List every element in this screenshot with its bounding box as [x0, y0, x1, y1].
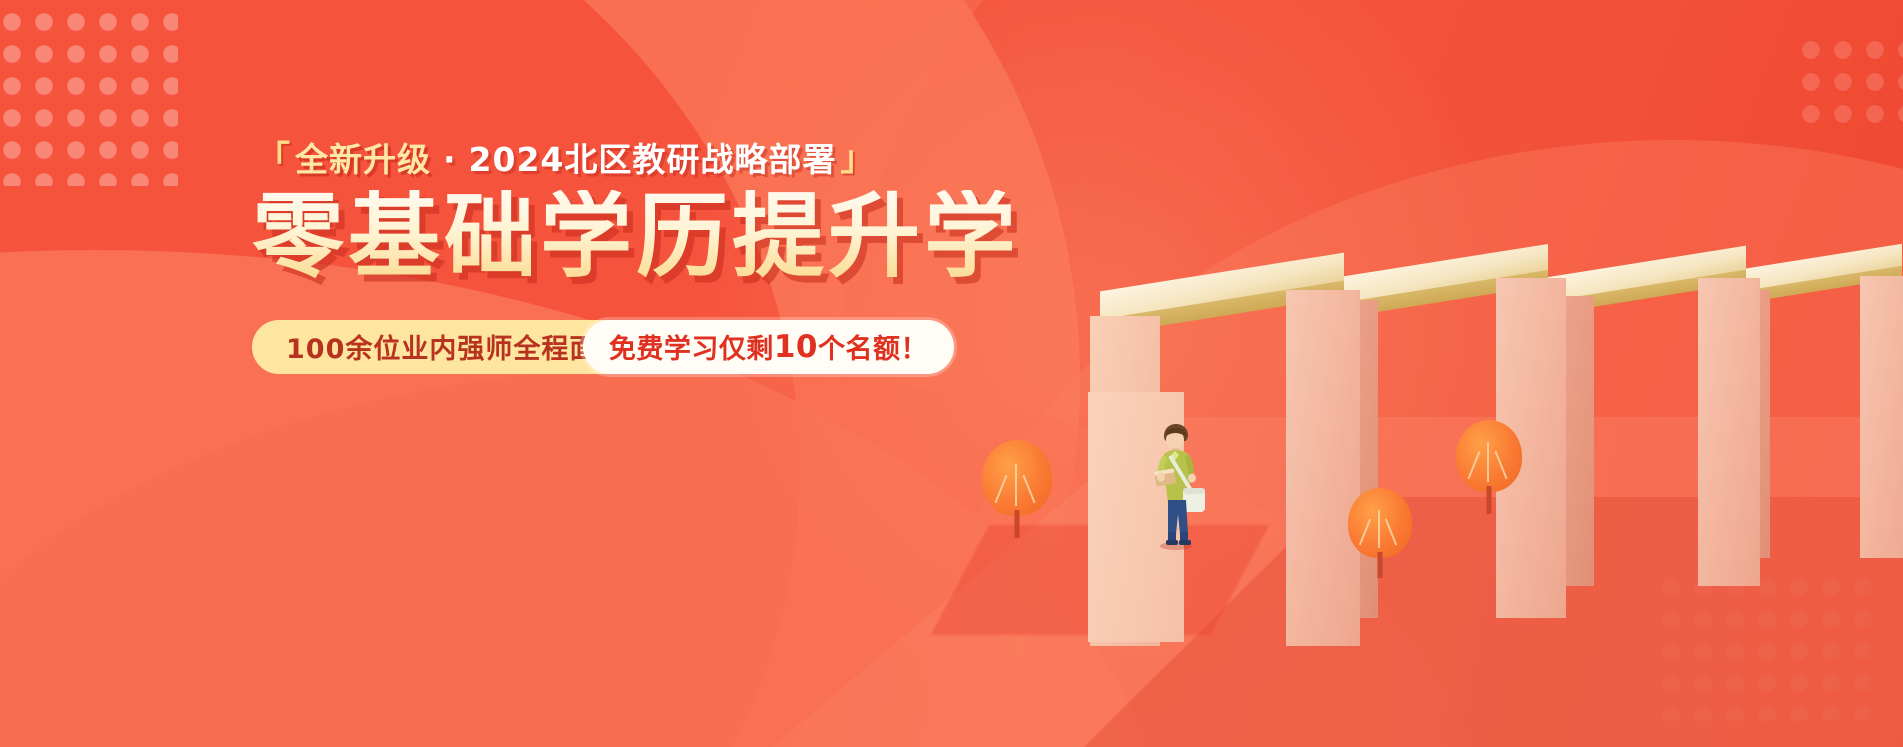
headline-title: 零基础学历提升学霸班 — [252, 190, 1012, 284]
badge-row: 100余位业内强师全程面授 免费学习仅剩10个名额！ — [252, 320, 954, 374]
badge-seats-prefix: 免费学习仅剩 — [609, 327, 774, 366]
eyebrow-rest: 2024北区教研战略部署 — [469, 143, 837, 176]
eyebrow-highlight: 全新升级 — [295, 143, 431, 176]
promo-banner: 「 全新升级 · 2024北区教研战略部署 」 零基础学历提升学霸班 100余位… — [0, 0, 1903, 747]
badge-seats-number: 10 — [774, 329, 818, 365]
bracket-close-icon: 」 — [840, 142, 875, 176]
copy-block: 「 全新升级 · 2024北区教研战略部署 」 零基础学历提升学霸班 100余位… — [252, 142, 1012, 374]
badge-seats-left[interactable]: 免费学习仅剩10个名额！ — [583, 320, 954, 374]
dot-grid-right-icon — [1795, 34, 1903, 124]
dot-grid-icon — [0, 6, 178, 186]
badge-instructors-label: 100余位业内强师全程面授 — [286, 327, 625, 366]
bracket-open-icon: 「 — [256, 142, 291, 176]
eyebrow-separator-icon: · — [443, 143, 457, 176]
badge-seats-suffix: 个名额！ — [818, 327, 928, 366]
floor-streak — [931, 525, 1269, 635]
eyebrow-line: 「 全新升级 · 2024北区教研战略部署 」 — [252, 142, 1012, 176]
